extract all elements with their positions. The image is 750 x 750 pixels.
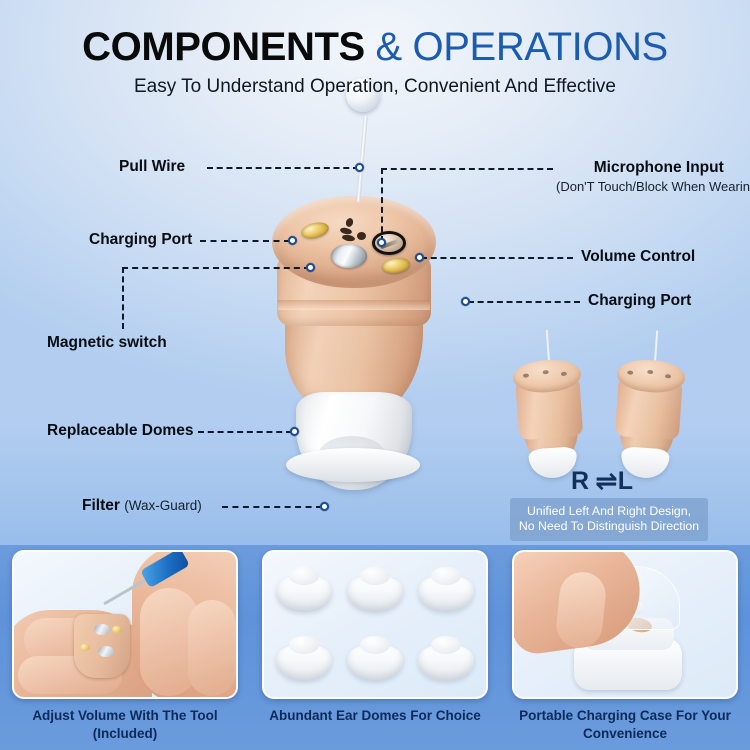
leader-microphone-vertical: [381, 168, 383, 242]
callout-microphone-input: Microphone Input (Don'T Touch/Block When…: [556, 159, 750, 194]
node-magnetic-switch: [306, 263, 315, 272]
node-charging-port-right: [461, 297, 470, 306]
charging-port-left-icon: [300, 220, 331, 241]
magnet-switch-icon: [94, 624, 110, 635]
leader-replaceable-domes: [198, 431, 292, 433]
mini-port-icon: [523, 373, 529, 377]
mini-dial-icon: [561, 372, 567, 376]
mini-pull-wire-icon: [654, 330, 658, 362]
ear-dome-item: [347, 636, 403, 682]
ear-dome-item: [418, 636, 474, 682]
microphone-hole-icon: [345, 217, 354, 228]
leader-magnetic-switch-horizontal: [122, 267, 310, 269]
finger-icon: [188, 600, 236, 696]
mini-port-icon: [627, 370, 633, 374]
leader-pull-wire: [207, 167, 359, 169]
callout-volume-control: Volume Control: [581, 248, 695, 266]
ear-dome-item: [276, 636, 332, 682]
hearing-aid-in-hand-icon: [74, 614, 130, 678]
leader-charging-port-right: [468, 301, 580, 303]
gold-port-icon: [80, 644, 90, 651]
left-right-badge: R⇌L: [512, 466, 698, 497]
feature-card-charging-case[interactable]: Portable Charging Case For Your Convenie…: [500, 545, 750, 750]
unified-design-note: Unified Left And Right Design, No Need T…: [510, 498, 708, 541]
magnetic-switch-icon: [331, 244, 367, 268]
note-line-2: No Need To Distinguish Direction: [514, 519, 704, 534]
feature-card-ear-domes[interactable]: Abundant Ear Domes For Choice: [250, 545, 500, 750]
charging-port-right-icon: [381, 256, 411, 275]
node-replaceable-domes: [290, 427, 299, 436]
ear-dome-item: [276, 567, 332, 613]
feature-caption: Adjust Volume With The Tool (Included): [10, 707, 240, 743]
ear-domes-icon: [264, 552, 486, 697]
device-seam: [278, 300, 430, 310]
feature-image-charging-case: [512, 550, 738, 699]
microphone-hole-icon: [342, 234, 356, 242]
callout-charging-port-left: Charging Port: [89, 231, 192, 249]
dial-icon: [98, 646, 114, 657]
feature-strip: Adjust Volume With The Tool (Included) A…: [0, 545, 750, 750]
mini-dial-icon: [665, 374, 671, 378]
dome-filter-lip-icon: [286, 448, 420, 482]
callout-charging-port-right: Charging Port: [588, 292, 691, 310]
leader-microphone-horizontal: [381, 168, 553, 170]
title-primary: COMPONENTS: [82, 25, 365, 69]
feature-caption: Portable Charging Case For Your Convenie…: [510, 707, 740, 743]
hearing-aid-device: [268, 196, 440, 426]
note-line-1: Unified Left And Right Design,: [514, 504, 704, 519]
callout-pull-wire: Pull Wire: [119, 158, 185, 176]
product-infographic: COMPONENTS & OPERATIONS Easy To Understa…: [0, 0, 750, 750]
leader-volume-control: [421, 257, 573, 259]
page-title: COMPONENTS & OPERATIONS: [0, 24, 750, 70]
feature-image-volume-tool: [12, 550, 238, 699]
title-secondary: & OPERATIONS: [376, 25, 668, 69]
feature-caption: Abundant Ear Domes For Choice: [260, 707, 490, 725]
mini-pull-wire-icon: [546, 330, 550, 362]
ear-dome-item: [347, 567, 403, 613]
badge-letter-right: R: [571, 467, 595, 495]
node-volume-control: [415, 253, 424, 262]
mini-hearing-aid-right: [510, 358, 590, 481]
swap-arrows-icon: ⇌: [595, 466, 618, 497]
microphone-hole-icon: [357, 232, 366, 240]
hearing-aid-pair: R⇌L Unified Left And Right Design, No Ne…: [512, 346, 698, 526]
node-microphone-input: [377, 238, 386, 247]
feature-image-ear-domes: [262, 550, 488, 699]
ear-dome-item: [418, 567, 474, 613]
gold-port-icon: [112, 626, 122, 633]
leader-charging-port-left: [200, 240, 290, 242]
pull-wire-icon: [356, 116, 367, 202]
header: COMPONENTS & OPERATIONS Easy To Understa…: [0, 24, 750, 98]
node-filter: [320, 502, 329, 511]
mini-hearing-aid-left: [608, 358, 688, 481]
node-charging-port-left: [288, 236, 297, 245]
diagram-area: COMPONENTS & OPERATIONS Easy To Understa…: [0, 0, 750, 545]
page-subtitle: Easy To Understand Operation, Convenient…: [0, 76, 750, 98]
callout-filter: Filter (Wax-Guard): [82, 497, 202, 515]
mini-mic-icon: [647, 370, 653, 374]
leader-magnetic-switch-vertical: [122, 267, 124, 329]
callout-replaceable-domes: Replaceable Domes: [47, 422, 193, 440]
node-pull-wire: [355, 163, 364, 172]
callout-magnetic-switch: Magnetic switch: [47, 334, 167, 352]
leader-filter: [222, 506, 322, 508]
mini-mic-icon: [543, 370, 549, 374]
feature-card-volume-tool[interactable]: Adjust Volume With The Tool (Included): [0, 545, 250, 750]
badge-letter-left: L: [618, 467, 639, 495]
